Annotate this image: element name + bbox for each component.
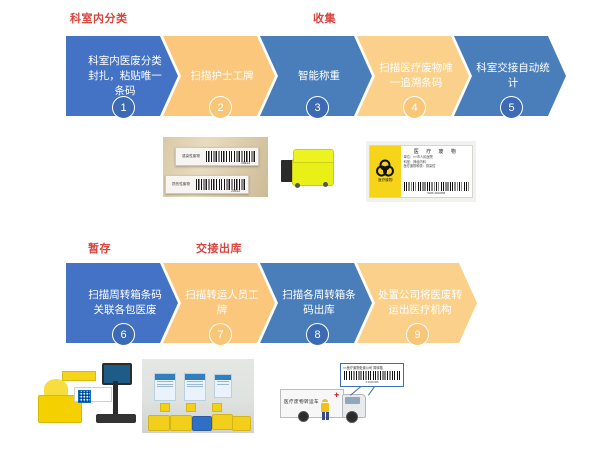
process-step-6-label: 扫描周转箱条码关联各包医废 — [66, 288, 178, 318]
storage-bin — [148, 415, 170, 431]
truck-windshield — [345, 397, 360, 404]
red-cross-icon: ✚ — [334, 393, 339, 399]
process-row-2: 扫描周转箱条码关联各包医废 扫描转运人员工牌 扫描各周转箱条码出库 处置公司将医… — [0, 263, 600, 343]
cart-wheel — [295, 183, 300, 188]
medical-waste-label-card: 医疗废物 医 疗 废 物 单位：××市人民医院 科室：神经内科 医疗废物种类：感… — [369, 145, 473, 198]
wall-poster — [184, 373, 206, 401]
process-step-5-label: 科室交接自动统计 — [454, 61, 566, 91]
barcode-sticker-top-text: 感染性废物 — [176, 154, 204, 159]
biohazard-icon — [377, 161, 393, 177]
barcode-sticker-bottom-number: 20613 — [231, 189, 240, 193]
cart-lid — [293, 149, 334, 163]
label-barcode — [404, 182, 469, 191]
storage-bin — [170, 415, 192, 431]
label-fields: 医 疗 废 物 单位：××市人民医院 科室：神经内科 医疗废物种类：感染性 52… — [401, 146, 472, 197]
wall-poster — [154, 373, 176, 401]
weighing-cart-photo — [277, 142, 341, 197]
barcode-labels-photo: 感染性废物 05613 损伤性废物 20613 — [163, 137, 268, 197]
qr-code — [78, 390, 91, 403]
label-barcode-number: 5206 4023456 — [404, 191, 469, 195]
process-step-2-label: 扫描护士工牌 — [171, 69, 268, 84]
section-label-collection: 收集 — [313, 10, 336, 26]
process-step-4-label: 扫描医疗废物唯一追溯条码 — [357, 61, 469, 91]
section-label-classification: 科室内分类 — [70, 10, 128, 26]
section-label-handover-outbound: 交接出库 — [196, 240, 242, 256]
process-step-9-label: 处置公司将医废转运出医疗机构 — [357, 288, 477, 318]
step-badge-1: 1 — [112, 96, 135, 119]
barcode-sticker-bottom-text: 损伤性废物 — [166, 182, 194, 187]
worker-figure — [320, 399, 330, 420]
barcode-sticker-top: 感染性废物 05613 — [175, 147, 259, 166]
step-badge-9: 9 — [406, 323, 429, 346]
storage-bin — [212, 414, 233, 430]
wall-poster — [214, 374, 232, 398]
biohazard-panel: 医疗废物 — [370, 146, 401, 197]
truck-wheel — [346, 411, 358, 423]
storage-bin — [192, 416, 212, 431]
truck-body-text: 医疗废物转运车 — [284, 399, 319, 405]
callout-barcode-number: 3 2019 005 — [341, 381, 403, 384]
callout-barcode — [344, 371, 400, 380]
truck-wheel — [298, 411, 309, 422]
process-step-3-label: 智能称重 — [278, 69, 354, 84]
barcode-sticker-top-number: 05613 — [241, 161, 250, 165]
bin-and-weighing-kiosk-photo — [32, 357, 148, 429]
kiosk-pole — [113, 381, 118, 415]
step-badge-2: 2 — [209, 96, 232, 119]
wall-tag — [212, 403, 222, 412]
label-title: 医 疗 废 物 — [404, 148, 469, 155]
barcode-callout: ××医疗废物处置公司 周转箱 3 2019 005 — [340, 363, 404, 387]
step-badge-7: 7 — [209, 323, 232, 346]
diagram-canvas: 科室内分类 收集 科室内医废分类封扎，粘贴唯一条码 扫描护士工牌 智能称重 扫描… — [0, 0, 600, 450]
label-field-category: 医疗废物种类：感染性 — [404, 164, 469, 169]
cart-wheel — [323, 182, 328, 187]
transport-truck-photo: 医疗废物转运车 ✚ ××医疗废物处置公司 周转箱 3 2019 005 — [276, 361, 404, 429]
storage-bin — [232, 416, 251, 431]
process-step-8-label: 扫描各周转箱条码出库 — [260, 288, 372, 318]
kiosk-scale-base — [96, 414, 136, 423]
biohazard-panel-text: 医疗废物 — [378, 178, 392, 183]
step-badge-3: 3 — [306, 96, 329, 119]
barcode-sticker-bottom: 损伤性废物 20613 — [165, 175, 249, 194]
wall-tag — [186, 403, 196, 412]
storage-room-photo — [142, 359, 254, 433]
step-badge-8: 8 — [306, 323, 329, 346]
step-badge-4: 4 — [403, 96, 426, 119]
medical-waste-label-photo: 医疗废物 医 疗 废 物 单位：××市人民医院 科室：神经内科 医疗废物种类：感… — [366, 141, 476, 202]
callout-text: ××医疗废物处置公司 周转箱 — [341, 364, 403, 370]
wall-tag — [160, 403, 170, 412]
section-label-temporary-storage: 暂存 — [88, 240, 111, 256]
process-step-1-label: 科室内医废分类封扎，粘贴唯一条码 — [66, 54, 178, 99]
process-step-7-label: 扫描转运人员工牌 — [163, 288, 275, 318]
yellow-tag — [62, 371, 96, 381]
step-badge-6: 6 — [112, 323, 135, 346]
step-badge-5: 5 — [500, 96, 523, 119]
